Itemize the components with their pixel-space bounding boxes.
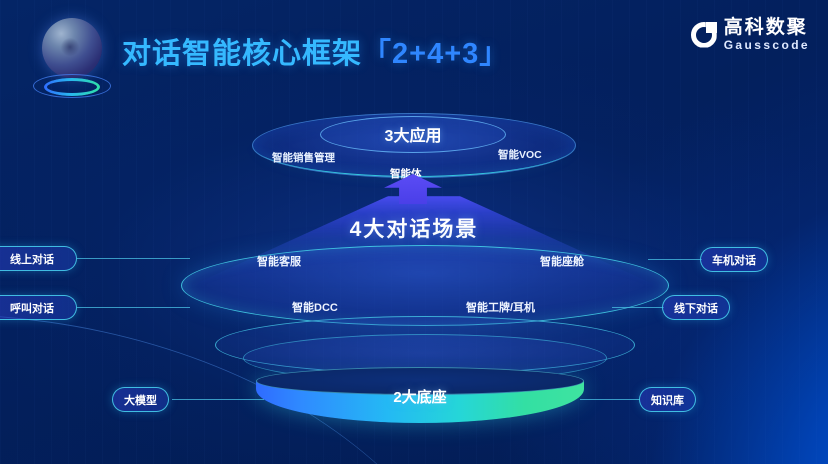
pill-large-model[interactable]: 大模型 (112, 387, 169, 412)
scenarios-ellipse (181, 245, 669, 326)
connector-line-left-1 (77, 258, 190, 259)
page-title-bracket-close: 」 (479, 38, 509, 70)
page-title-numbers: 2+4+3 (392, 38, 479, 70)
connector-line-bottom-left (172, 399, 264, 400)
scenarios-title: 4大对话场景 (0, 213, 828, 243)
logo-text: 高科数聚 Gausscode (724, 18, 810, 51)
page-title-bracket-open: 「 (362, 38, 392, 70)
glowing-sphere-icon (33, 16, 111, 100)
foundation-cylinder: 2大底座 (256, 367, 584, 423)
logo-text-cn: 高科数聚 (724, 18, 810, 37)
pill-offline-dialogue[interactable]: 线下对话 (662, 295, 730, 320)
page-title-main: 对话智能核心框架 (122, 38, 362, 70)
connector-line-left-2 (77, 307, 190, 308)
pill-knowledge-base[interactable]: 知识库 (639, 387, 696, 412)
pill-invehicle-dialogue[interactable]: 车机对话 (700, 247, 768, 272)
connector-line-right-2 (612, 307, 664, 308)
scenario-label-dcc: 智能DCC (292, 299, 338, 315)
application-label-voc: 智能VOC (498, 147, 542, 162)
connector-line-bottom-right (580, 399, 640, 400)
scenario-label-customer-service: 智能客服 (257, 253, 301, 269)
page-title: 对话智能核心框架「2+4+3」 (122, 30, 509, 72)
brand-logo: 高科数聚 Gausscode (691, 18, 810, 51)
gausscode-g-mark-icon (691, 22, 717, 48)
sphere-inner-ring (44, 78, 100, 96)
pill-call-dialogue[interactable]: 呼叫对话 (0, 295, 77, 320)
scenario-label-badge-headset: 智能工牌/耳机 (466, 299, 535, 315)
slide-canvas: 对话智能核心框架「2+4+3」 高科数聚 Gausscode 3大应用 智能销售… (0, 0, 828, 464)
logo-square-block (706, 22, 717, 33)
connector-line-right-1 (648, 259, 702, 260)
applications-title: 3大应用 (320, 122, 506, 146)
application-label-sales: 智能销售管理 (272, 150, 335, 165)
scenario-label-cockpit: 智能座舱 (540, 253, 584, 269)
logo-text-en: Gausscode (724, 39, 810, 51)
foundation-title: 2大底座 (256, 386, 584, 407)
sphere-body (42, 18, 102, 78)
pill-online-dialogue[interactable]: 线上对话 (0, 246, 77, 271)
